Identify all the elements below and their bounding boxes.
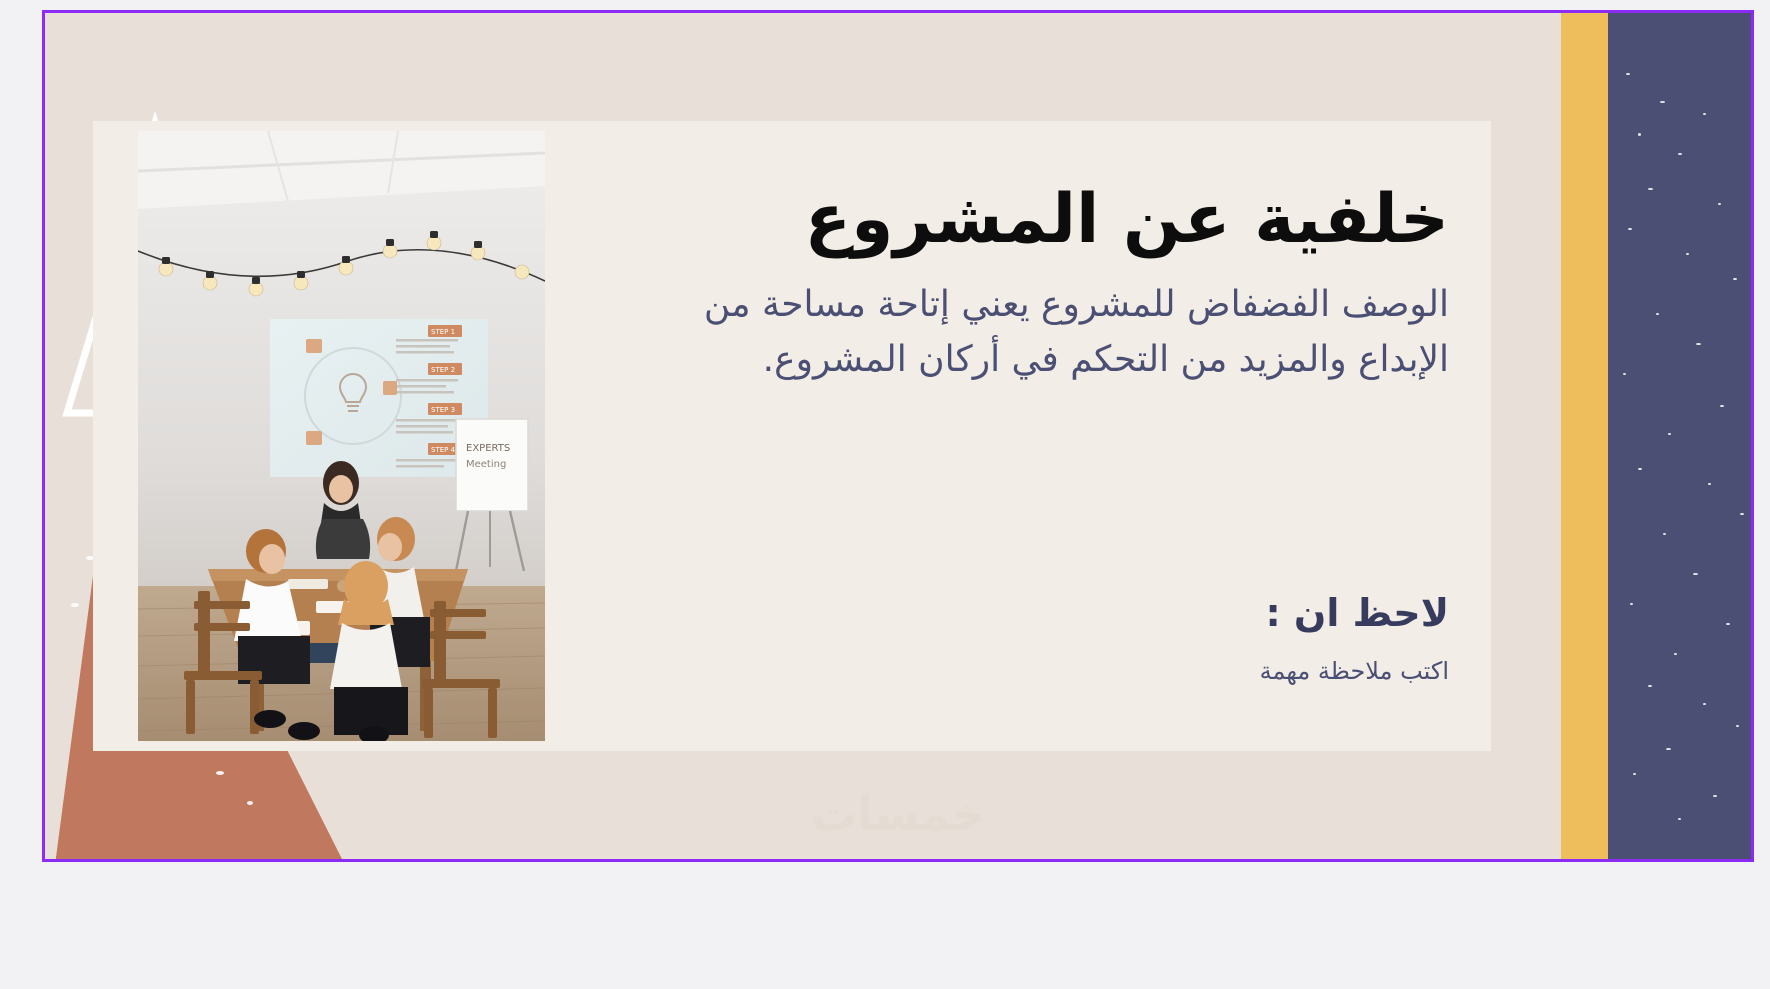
navy-accent-bar	[1608, 13, 1751, 859]
svg-text:STEP 4: STEP 4	[431, 446, 456, 454]
svg-text:STEP 1: STEP 1	[431, 328, 455, 336]
meeting-room-photo: STEP 1 STEP 2 STEP 3 STEP 4	[138, 131, 545, 741]
slide-frame: STEP 1 STEP 2 STEP 3 STEP 4	[42, 10, 1754, 862]
svg-text:Meeting: Meeting	[466, 459, 506, 470]
svg-text:EXPERTS: EXPERTS	[466, 443, 510, 454]
content-panel: STEP 1 STEP 2 STEP 3 STEP 4	[93, 121, 1491, 751]
slide-body-text: الوصف الفضفاض للمشروع يعني إتاحة مساحة م…	[619, 278, 1449, 387]
slide-text-column: خلفية عن المشروع الوصف الفضفاض للمشروع ي…	[619, 183, 1449, 388]
page-title: خلفية عن المشروع	[619, 183, 1449, 256]
svg-text:STEP 2: STEP 2	[431, 366, 455, 374]
note-body-text: اكتب ملاحظة مهمة	[619, 657, 1449, 685]
watermark: خمسات	[45, 787, 1751, 841]
note-heading: لاحظ ان :	[619, 591, 1449, 635]
note-block: لاحظ ان : اكتب ملاحظة مهمة	[619, 591, 1449, 685]
slide-canvas: STEP 1 STEP 2 STEP 3 STEP 4	[45, 13, 1751, 859]
svg-text:STEP 3: STEP 3	[431, 406, 455, 414]
yellow-accent-bar	[1561, 13, 1608, 859]
navy-bar-speckles	[1608, 13, 1751, 859]
photo-illustration: STEP 1 STEP 2 STEP 3 STEP 4	[138, 131, 545, 741]
